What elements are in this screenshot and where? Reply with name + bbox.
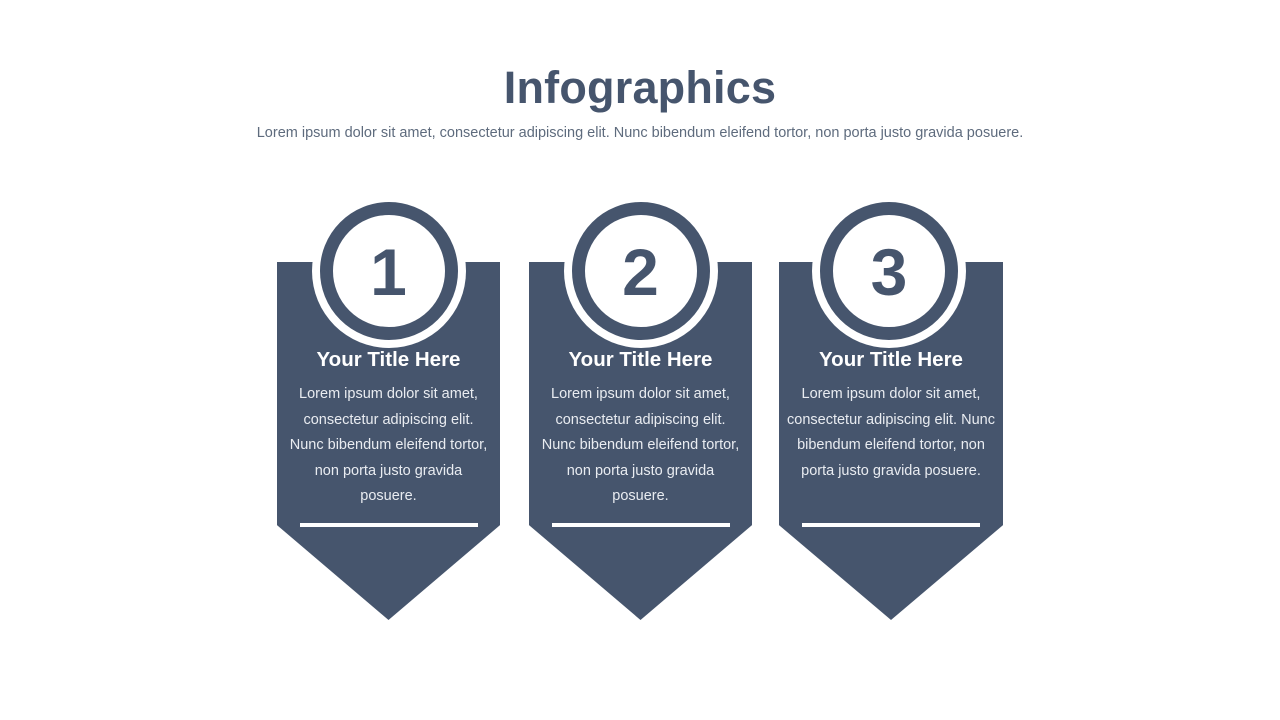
card-3-body: Your Title Here Lorem ipsum dolor sit am… [779, 347, 1003, 484]
card-1-body: Your Title Here Lorem ipsum dolor sit am… [277, 347, 500, 510]
card-2-number: 2 [622, 239, 659, 305]
card-1-text: Lorem ipsum dolor sit amet, consectetur … [285, 373, 492, 510]
card-2-number-badge: 2 [572, 202, 710, 340]
card-3-text: Lorem ipsum dolor sit amet, consectetur … [787, 373, 995, 484]
card-2-title: Your Title Here [537, 347, 744, 373]
infographic-slide: Infographics Lorem ipsum dolor sit amet,… [0, 0, 1280, 720]
card-3-title: Your Title Here [787, 347, 995, 373]
cards-row: 1 Your Title Here Lorem ipsum dolor sit … [0, 202, 1280, 632]
slide-header: Infographics Lorem ipsum dolor sit amet,… [0, 60, 1280, 143]
card-3-number: 3 [871, 239, 908, 305]
card-1-number-badge: 1 [320, 202, 458, 340]
card-2-divider [552, 523, 730, 527]
page-subtitle: Lorem ipsum dolor sit amet, consectetur … [0, 116, 1280, 143]
card-2-text: Lorem ipsum dolor sit amet, consectetur … [537, 373, 744, 510]
card-1-title: Your Title Here [285, 347, 492, 373]
card-2-body: Your Title Here Lorem ipsum dolor sit am… [529, 347, 752, 510]
card-3-divider [802, 523, 980, 527]
card-2[interactable]: 2 Your Title Here Lorem ipsum dolor sit … [529, 202, 752, 620]
page-title: Infographics [0, 60, 1280, 116]
card-1-divider [300, 523, 478, 527]
card-1[interactable]: 1 Your Title Here Lorem ipsum dolor sit … [277, 202, 500, 620]
card-3[interactable]: 3 Your Title Here Lorem ipsum dolor sit … [779, 202, 1003, 620]
card-3-number-badge: 3 [820, 202, 958, 340]
card-1-number: 1 [370, 239, 407, 305]
